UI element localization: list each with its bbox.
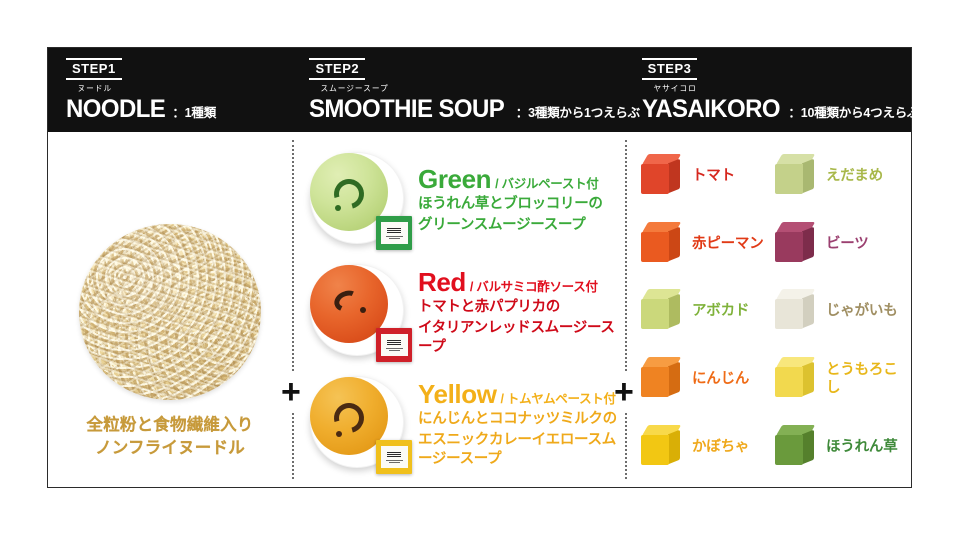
step2-subtitle: ：3種類から1つえらぶ [516,106,640,120]
green-sachet-packet [376,216,412,250]
red-soup-bowl [302,258,414,366]
green-soup-text: Green / バジルペースト付 ほうれん草とブロッコリーの グリーンスムージー… [418,165,619,235]
step1-chip: STEP1 [66,58,122,80]
red-soup-text: Red / バルサミコ酢ソース付 トマトと赤パプリカの イタリアンレッドスムージ… [418,268,619,357]
step2-header: STEP2 スムージースープ SMOOTHIE SOUP ：3種類から1つえらぶ [291,48,623,132]
potato-cube-icon [771,287,819,335]
sachet-text-line [389,462,400,463]
step3-ruby: ヤサイコロ [653,85,696,93]
red-soup-desc-line1: トマトと赤パプリカの [418,298,619,317]
corn-cube-icon [771,355,819,403]
green-soup-name: Green [418,165,491,193]
soup-option-yellow[interactable]: Yellow / トムヤムペースト付 にんじんとココナッツミルクの エスニックカ… [302,368,619,480]
veg-item-red-pepper[interactable]: 赤ピーマン [637,220,771,268]
step3-header: STEP3 ヤサイコロ YASAIKORO ：10種類から4つえらぶ [624,48,911,132]
step2-title-row: スムージースープ SMOOTHIE SOUP ：3種類から1つえらぶ [309,96,640,122]
step3-chip: STEP3 [642,58,698,80]
vegetable-grid: トマト えだまめ 赤ピーマン [637,142,905,481]
red-soup-title-line: Red / バルサミコ酢ソース付 [418,268,619,296]
yellow-soup-tag: / トムヤムペースト付 [501,388,616,407]
sachet-logo-icon [387,228,401,235]
noodle-caption-line2: ノンフライヌードル [87,437,254,460]
sachet-logo-icon [387,340,401,347]
yellow-soup-desc-line1: にんじんとココナッツミルクの [418,410,619,429]
veg-item-beets[interactable]: ビーツ [771,220,905,268]
step1-title: ヌードル NOODLE [66,96,165,122]
veg-label: かぼちゃ [692,438,749,456]
veg-label: えだまめ [826,167,883,185]
sachet-text-line [386,348,403,349]
soup-swirl-dot-icon [360,307,366,313]
veg-item-edamame[interactable]: えだまめ [771,152,905,200]
steps-body: + + 全粒粉と食物繊維入り ノンフライヌードル [48,132,911,487]
yellow-soup-bowl [302,370,414,478]
step2-title-text: SMOOTHIE SOUP [309,95,504,123]
step1-title-row: ヌードル NOODLE ：1種類 [66,96,216,122]
sachet-logo-icon [387,452,401,459]
beets-cube-icon [771,220,819,268]
three-step-panel: STEP1 ヌードル NOODLE ：1種類 STEP2 スムージースープ SM… [47,47,912,488]
yellow-soup-name: Yellow [418,380,497,408]
sachet-text-line [386,460,403,461]
yellow-soup-title-line: Yellow / トムヤムペースト付 [418,380,619,408]
veg-item-avocado[interactable]: アボカド [637,287,771,335]
spinach-cube-icon [771,423,819,471]
sachet-label [381,222,408,244]
noodle-caption-line1: 全粒粉と食物繊維入り [87,414,254,437]
step2-title: スムージースープ SMOOTHIE SOUP [309,96,504,122]
veg-item-carrot[interactable]: にんじん [637,355,771,403]
step3-title: ヤサイコロ YASAIKORO [642,96,780,122]
avocado-cube-icon [637,287,685,335]
infographic-page: STEP1 ヌードル NOODLE ：1種類 STEP2 スムージースープ SM… [0,0,960,536]
veg-item-spinach[interactable]: ほうれん草 [771,423,905,471]
green-soup-tag: / バジルペースト付 [495,173,598,192]
sachet-text-line [389,350,400,351]
step2-ruby: スムージースープ [321,85,389,93]
tomato-cube-icon [637,152,685,200]
noodle-image [79,224,261,400]
soup-swirl-dot-icon [336,431,342,437]
veg-label: トマト [692,167,735,185]
step1-header: STEP1 ヌードル NOODLE ：1種類 [48,48,291,132]
veg-item-tomato[interactable]: トマト [637,152,771,200]
step2-chip: STEP2 [309,58,365,80]
veg-item-corn[interactable]: とうもろこし [771,355,905,403]
sachet-label [381,334,408,356]
step1-content: 全粒粉と食物繊維入り ノンフライヌードル [48,132,292,487]
red-pepper-cube-icon [637,220,685,268]
step3-title-text: YASAIKORO [642,95,780,123]
step1-subtitle: ：1種類 [172,106,216,120]
veg-item-potato[interactable]: じゃがいも [771,287,905,335]
step1-title-text: NOODLE [66,95,165,123]
noodle-caption: 全粒粉と食物繊維入り ノンフライヌードル [87,414,254,460]
soup-swirl-dot-icon [335,205,341,211]
veg-label: 赤ピーマン [692,235,764,253]
noodle-block: 全粒粉と食物繊維入り ノンフライヌードル [48,224,292,460]
veg-label: アボカド [692,302,749,320]
red-soup-desc-line2: イタリアンレッドスムージースープ [418,319,619,357]
green-soup-desc-line1: ほうれん草とブロッコリーの [418,195,619,214]
green-soup-title-line: Green / バジルペースト付 [418,165,619,193]
red-soup-tag: / バルサミコ酢ソース付 [470,276,598,295]
soup-swirl-icon [331,287,362,315]
yellow-soup-text: Yellow / トムヤムペースト付 にんじんとココナッツミルクの エスニックカ… [418,380,619,469]
sachet-text-line [389,238,400,239]
yellow-sachet-packet [376,440,412,474]
step3-content: トマト えだまめ 赤ピーマン [625,132,911,487]
edamame-cube-icon [771,152,819,200]
veg-label: にんじん [692,370,749,388]
carrot-cube-icon [637,355,685,403]
veg-label: じゃがいも [826,302,898,320]
soup-option-green[interactable]: Green / バジルペースト付 ほうれん草とブロッコリーの グリーンスムージー… [302,144,619,256]
green-soup-bowl [302,146,414,254]
veg-label: とうもろこし [826,361,905,397]
step2-content: Green / バジルペースト付 ほうれん草とブロッコリーの グリーンスムージー… [292,132,625,487]
veg-item-pumpkin[interactable]: かぼちゃ [637,423,771,471]
soup-option-red[interactable]: Red / バルサミコ酢ソース付 トマトと赤パプリカの イタリアンレッドスムージ… [302,256,619,368]
red-sachet-packet [376,328,412,362]
sachet-text-line [386,236,403,237]
veg-label: ほうれん草 [826,438,898,456]
step3-subtitle: ：10種類から4つえらぶ [788,106,919,120]
sachet-label [381,446,408,468]
step3-title-row: ヤサイコロ YASAIKORO ：10種類から4つえらぶ [642,96,920,122]
soup-swirl-icon [329,398,370,439]
yellow-soup-desc-line2: エスニックカレーイエロースムージースープ [418,431,619,469]
veg-label: ビーツ [826,235,869,253]
red-soup-name: Red [418,268,466,296]
green-soup-desc-line2: グリーンスムージースープ [418,216,619,235]
pumpkin-cube-icon [637,423,685,471]
step1-ruby: ヌードル [78,85,113,93]
steps-header-band: STEP1 ヌードル NOODLE ：1種類 STEP2 スムージースープ SM… [48,48,911,132]
